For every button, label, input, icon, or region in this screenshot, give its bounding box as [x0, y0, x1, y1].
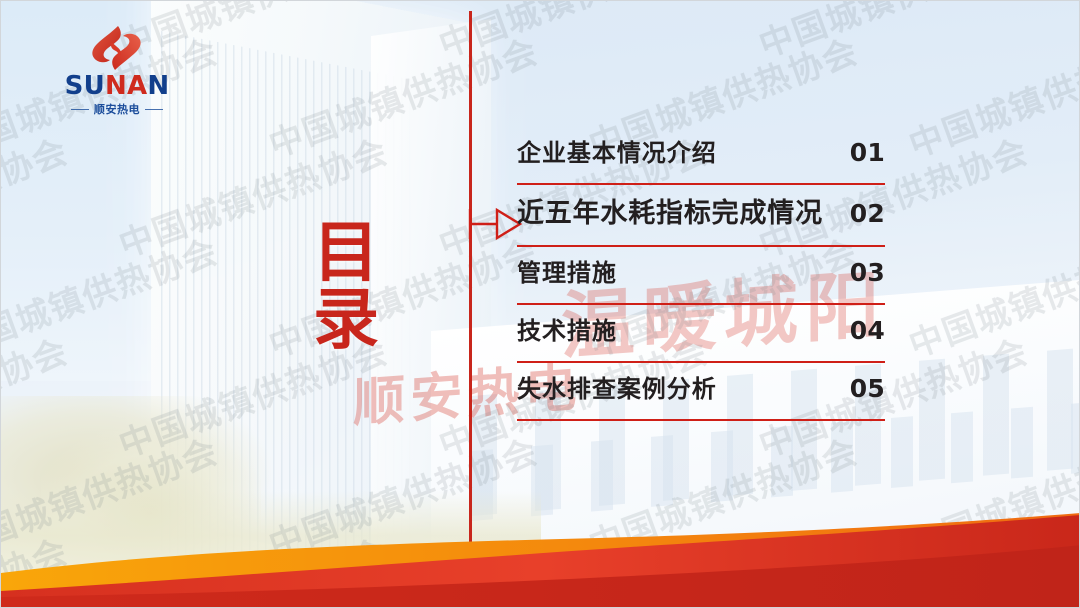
active-item-arrow-icon	[467, 201, 523, 247]
page-title: 目 录	[296, 219, 396, 354]
logo-word-part1: SU	[65, 71, 105, 101]
logo-subtitle: 顺安热电	[94, 101, 140, 117]
toc-item-label: 失水排查案例分析	[517, 369, 717, 404]
toc-item-05[interactable]: 失水排查案例分析05	[517, 369, 885, 421]
footer-wave-decoration	[1, 487, 1080, 607]
toc-item-number: 01	[850, 138, 885, 167]
toc-item-03[interactable]: 管理措施03	[517, 253, 885, 305]
flame-icon	[85, 25, 147, 71]
toc-item-label: 技术措施	[517, 311, 617, 346]
logo-word-part3: N	[147, 71, 169, 101]
page-title-char-2: 录	[296, 286, 396, 353]
toc-item-04[interactable]: 技术措施04	[517, 311, 885, 363]
logo-subtitle-row: 顺安热电	[47, 101, 187, 117]
slide-canvas: 顺安热电 温暖城阳 中国城镇供热协会中国城镇供热协会中国城镇供热协会中国城镇供热…	[0, 0, 1080, 608]
company-logo: SUNAN 顺安热电	[47, 25, 187, 107]
logo-wordmark: SUNAN	[47, 73, 187, 99]
page-title-char-1: 目	[296, 219, 396, 286]
toc-item-label: 企业基本情况介绍	[517, 133, 717, 168]
toc-item-label: 管理措施	[517, 253, 617, 288]
toc-item-number: 04	[850, 316, 885, 345]
toc-item-01[interactable]: 企业基本情况介绍01	[517, 133, 885, 185]
vertical-divider	[469, 11, 472, 563]
logo-word-part2: NA	[105, 71, 147, 101]
toc-item-label: 近五年水耗指标完成情况	[517, 191, 823, 230]
toc-item-number: 03	[850, 258, 885, 287]
logo-rule-left	[71, 109, 89, 110]
toc-item-02[interactable]: 近五年水耗指标完成情况02	[517, 191, 885, 247]
toc-item-number: 05	[850, 374, 885, 403]
logo-rule-right	[145, 109, 163, 110]
toc-list: 企业基本情况介绍01近五年水耗指标完成情况02管理措施03技术措施04失水排查案…	[517, 133, 885, 421]
toc-item-number: 02	[850, 199, 885, 228]
